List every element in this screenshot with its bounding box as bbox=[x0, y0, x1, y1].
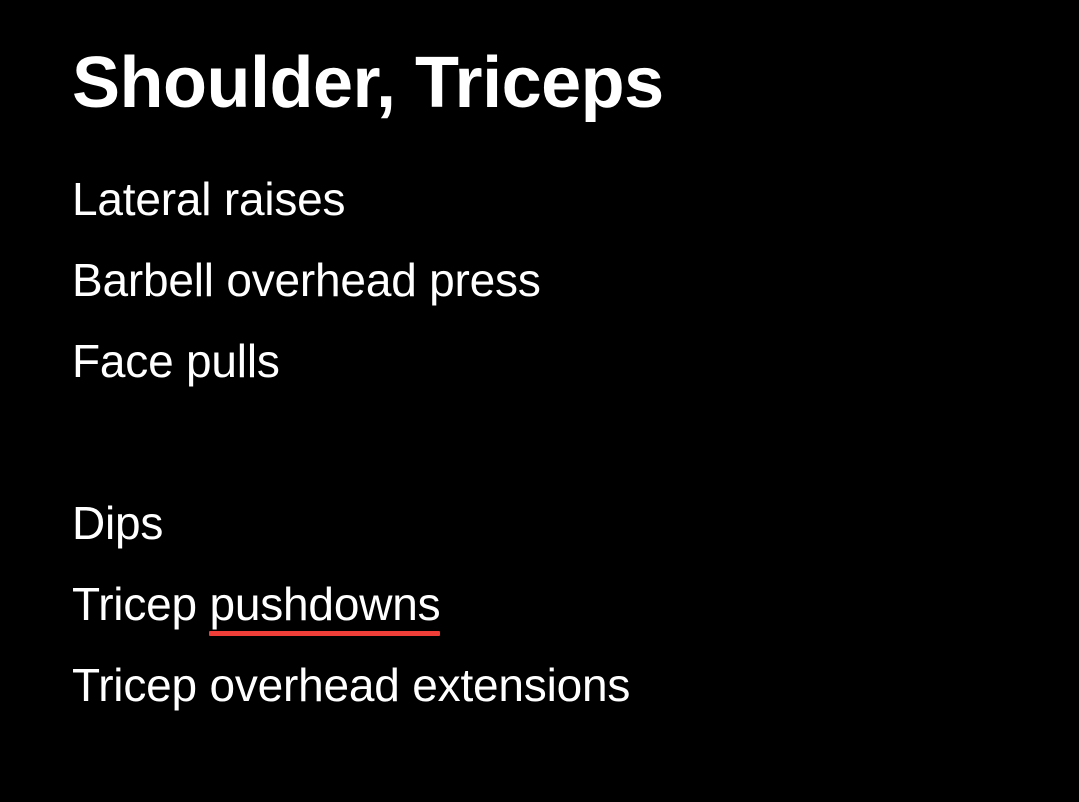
exercise-group-tricep[interactable]: Dips Tricep pushdowns Tricep overhead ex… bbox=[72, 483, 1039, 726]
note-text-body[interactable]: Shoulder, Triceps Lateral raises Barbell… bbox=[72, 0, 1039, 726]
blank-line[interactable] bbox=[72, 402, 1039, 483]
list-item[interactable]: Face pulls bbox=[72, 321, 1039, 402]
list-item[interactable]: Tricep overhead extensions bbox=[72, 645, 1039, 726]
list-item[interactable]: Barbell overhead press bbox=[72, 240, 1039, 321]
list-item[interactable]: Lateral raises bbox=[72, 159, 1039, 240]
list-item-text-prefix: Tricep bbox=[72, 578, 209, 630]
exercise-list[interactable]: Lateral raises Barbell overhead press Fa… bbox=[72, 159, 1039, 726]
list-item[interactable]: Dips bbox=[72, 483, 1039, 564]
page-title: Shoulder, Triceps bbox=[72, 0, 1039, 119]
list-item[interactable]: Tricep pushdowns bbox=[72, 564, 1039, 645]
note-canvas: Shoulder, Triceps Lateral raises Barbell… bbox=[0, 0, 1079, 802]
misspelled-word[interactable]: pushdowns bbox=[209, 564, 440, 645]
exercise-group-shoulder[interactable]: Lateral raises Barbell overhead press Fa… bbox=[72, 159, 1039, 402]
